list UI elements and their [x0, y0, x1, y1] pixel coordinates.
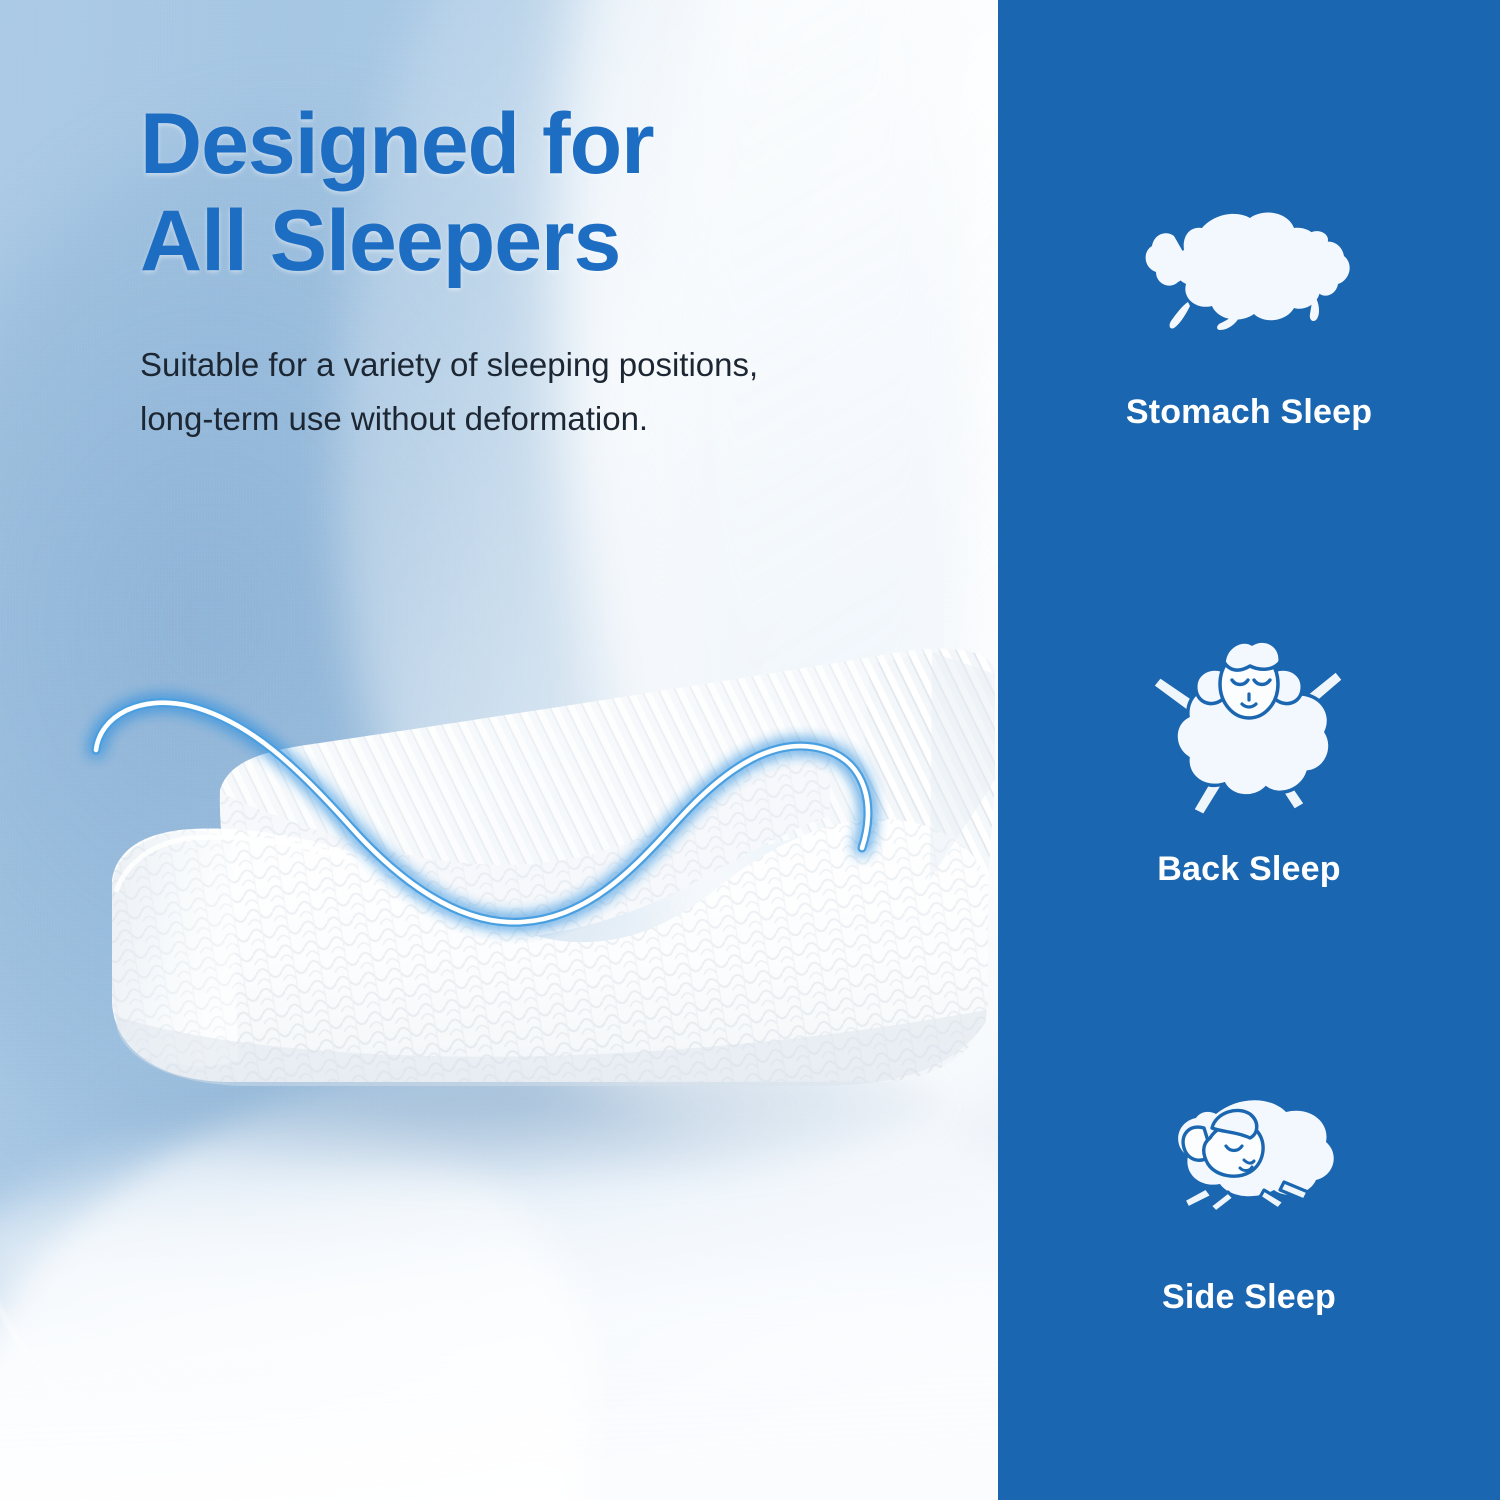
subtitle-line-2: long-term use without deformation.	[140, 392, 900, 445]
pillow-illustration	[70, 630, 998, 1190]
sleep-position-label: Side Sleep	[1162, 1278, 1336, 1317]
headline-line-2: All Sleepers	[140, 193, 900, 290]
sleep-position-label: Back Sleep	[1157, 850, 1340, 889]
subtitle-line-1: Suitable for a variety of sleeping posit…	[140, 338, 900, 391]
headline-line-1: Designed for	[140, 96, 900, 193]
page-title: Designed for All Sleepers	[140, 96, 900, 290]
hero-panel: Designed for All Sleepers Suitable for a…	[0, 0, 998, 1500]
sleep-position-label: Stomach Sleep	[1126, 393, 1372, 432]
sheep-side-sleep-icon	[1134, 1064, 1364, 1244]
sleep-positions-panel: Stomach Sleep	[998, 0, 1500, 1500]
hero-copy-block: Designed for All Sleepers Suitable for a…	[140, 96, 900, 445]
sheep-stomach-sleep-icon	[1134, 179, 1364, 359]
product-feature-banner: Designed for All Sleepers Suitable for a…	[0, 0, 1500, 1500]
sheep-back-sleep-icon	[1134, 606, 1364, 826]
sleep-position-item-stomach[interactable]: Stomach Sleep	[998, 179, 1500, 432]
product-image-pillow	[70, 630, 998, 1190]
hero-subtitle: Suitable for a variety of sleeping posit…	[140, 338, 900, 445]
sleep-position-item-side[interactable]: Side Sleep	[998, 1064, 1500, 1317]
sleep-position-item-back[interactable]: Back Sleep	[998, 606, 1500, 889]
